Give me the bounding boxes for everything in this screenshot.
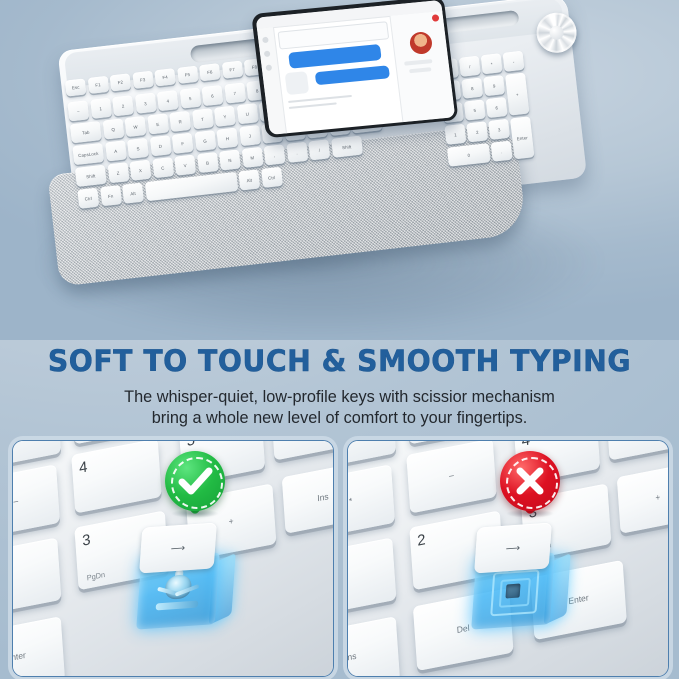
numpad-close-keycap[interactable]: ← [13, 441, 61, 469]
keycap[interactable]: S [127, 138, 149, 159]
product-infographic: EscF1F2F3F4F5F6F7F8F9F10F11F12~123456789… [0, 0, 679, 679]
keycap[interactable]: F4 [154, 68, 176, 86]
numpad-close-keycap[interactable]: 6 [271, 441, 333, 460]
keycap-label: 8 [462, 84, 482, 91]
check-icon [165, 451, 225, 511]
keycap-label: F5 [177, 71, 197, 78]
membrane-post [505, 584, 520, 599]
keycap-label: Shift [331, 143, 361, 151]
keycap[interactable]: Ctrl [77, 188, 99, 209]
keycap-label: . [491, 148, 511, 155]
numpad-close-keycap[interactable]: 1End [348, 537, 396, 616]
keycap[interactable]: Ctrl [261, 167, 283, 188]
keycap-label: 0 [448, 150, 490, 160]
keycap-secondary-label: PgDn [348, 441, 395, 446]
keycap[interactable]: 1 [90, 98, 112, 119]
keycap-label: F [172, 140, 192, 147]
keycap[interactable]: T [192, 108, 214, 129]
highlighted-keycap-bad: ⟶ [474, 522, 552, 573]
keycap-label: 5 [465, 106, 485, 113]
subtitle-line-1: The whisper-quiet, low-profile keys with… [124, 388, 555, 406]
keycap[interactable]: G [194, 130, 216, 151]
numpad-close-keycap[interactable]: PgDn [348, 441, 396, 469]
keycap[interactable]: F1 [87, 76, 109, 94]
keycap-primary-label: 4 [79, 458, 88, 477]
numpad-close-keycap[interactable]: – [406, 441, 496, 513]
keycap[interactable]: N [219, 149, 241, 170]
keycap-label: . [287, 149, 307, 156]
scissor-mechanism [154, 567, 203, 610]
keycap[interactable]: Z [107, 162, 129, 183]
keycap-label: M [242, 154, 262, 161]
keycap-label: F1 [88, 81, 108, 88]
keycap[interactable]: E [147, 113, 169, 134]
keycap[interactable]: 6 [201, 85, 223, 106]
phone-app-contact-pane [389, 10, 455, 121]
keycap[interactable]: . [286, 142, 308, 163]
keycap-label: X [130, 167, 150, 174]
numpad-keycap[interactable]: 2 [466, 121, 488, 142]
numpad-close-keycap[interactable]: Enter [13, 616, 65, 676]
chat-bubble-outgoing [288, 44, 382, 69]
keycap-label: 1 [90, 105, 110, 112]
numpad-close-keycap[interactable]: – [13, 464, 60, 539]
keycap-arrow-glyph: ⟶ [140, 541, 215, 557]
highlighted-keycap-good: ⟶ [139, 522, 217, 573]
keycap[interactable]: U [236, 103, 258, 124]
keycap-label: A [105, 147, 125, 154]
numpad-keycap[interactable]: 5 [464, 99, 486, 120]
keycap-label: E [148, 120, 168, 127]
keycap-label: 3 [135, 100, 155, 107]
keycap-secondary-label: Ins [283, 486, 333, 511]
subtitle: The whisper-quiet, low-profile keys with… [0, 378, 679, 428]
keycap-label: ~ [68, 107, 88, 114]
keycap[interactable]: A [105, 140, 127, 161]
keycap[interactable]: 3 [134, 93, 156, 114]
keycap-label: 2 [467, 128, 487, 135]
keycap-label: F6 [200, 69, 220, 76]
panel-membrane-switch-bad: PgUpPgDnNumClear←Back7Home8*–4561End23Pg… [347, 440, 669, 677]
cross-icon [500, 451, 560, 511]
page-title: SOFT TO TOUCH & SMOOTH TYPING [14, 336, 666, 378]
keycap-label: G [195, 137, 215, 144]
keycap[interactable]: W [124, 116, 146, 137]
numpad-keycap[interactable]: Enter [510, 116, 535, 159]
scissor-baseplate [156, 601, 199, 611]
keycap[interactable]: X [129, 160, 151, 181]
keycap-primary-label: 4 [521, 441, 530, 450]
keycap-label: 1 [445, 131, 465, 138]
keycap-secondary-label: – [408, 463, 495, 489]
keycap-label: CapsLock [73, 150, 103, 158]
nav-rail-icon [265, 64, 272, 71]
phone-text-line [288, 102, 336, 109]
panel-scissor-switch-good: PgUp←←Back7Home8*–4561End23PgDn+Ins.Ente… [12, 440, 334, 677]
keycap-label: B [197, 159, 217, 166]
keycap-label: Z [108, 169, 128, 176]
numpad-close-keycap[interactable]: Ins [348, 616, 400, 676]
phone-text-line [287, 94, 351, 103]
keycap[interactable]: J [239, 125, 261, 146]
membrane-mechanism [490, 570, 535, 613]
keycap-label: 4 [158, 97, 178, 104]
keycap-label: W [125, 123, 145, 130]
keycap-secondary-label: Enter [13, 644, 63, 672]
keycap-primary-label: 5 [186, 441, 195, 450]
keycap-label: Alt [123, 190, 143, 197]
numpad-keycap[interactable]: * [481, 53, 503, 74]
keycap[interactable]: F [172, 133, 194, 154]
keycap-label: S [128, 145, 148, 152]
keycap[interactable]: 2 [112, 95, 134, 116]
subtitle-line-2: bring a whole new level of comfort to yo… [152, 409, 528, 427]
keycap-label: * [481, 60, 501, 67]
notification-dot [431, 14, 439, 22]
keycap[interactable]: CapsLock [72, 143, 104, 165]
nav-rail-icon [263, 50, 270, 57]
keycap-secondary-label: + [618, 486, 668, 511]
keycap-label: + [507, 90, 527, 97]
keycap-label: 5 [180, 94, 200, 101]
keycap[interactable]: F7 [221, 61, 243, 79]
keycap[interactable]: , [264, 144, 286, 165]
numpad-photo-bad: PgUpPgDnNumClear←Back7Home8*–4561End23Pg… [348, 441, 668, 676]
comparison-panels: PgUp←←Back7Home8*–4561End23PgDn+Ins.Ente… [0, 436, 679, 679]
smartphone-on-stand [251, 0, 458, 138]
keycap-label: Ctrl [261, 174, 281, 181]
keycap-label: 6 [202, 92, 222, 99]
keycap[interactable]: R [169, 111, 191, 132]
keycap[interactable]: Tab [70, 121, 102, 143]
numpad-keycap[interactable]: 6 [486, 97, 508, 118]
numpad-keycap[interactable]: - [503, 51, 525, 72]
chat-bubble-incoming [284, 71, 309, 95]
numpad-keycap[interactable]: . [491, 141, 513, 162]
keycap[interactable]: / [308, 139, 330, 160]
keycap[interactable]: 4 [157, 90, 179, 111]
keycap[interactable]: V [174, 155, 196, 176]
keycap-secondary-label: – [13, 489, 58, 515]
keycap-label: Shift [76, 172, 106, 180]
keycap-secondary-label: PgDn [86, 570, 105, 583]
numpad-keycap[interactable]: / [459, 56, 481, 77]
keycap[interactable]: M [241, 147, 263, 168]
keycap-secondary-label: ← [13, 441, 60, 446]
keycap[interactable]: F6 [199, 63, 221, 81]
keycap[interactable]: C [152, 157, 174, 178]
keycap-label: - [503, 58, 523, 65]
keycap-label: Alt [239, 176, 259, 183]
numpad-keycap[interactable]: 0 [447, 143, 491, 167]
numpad-keycap[interactable]: 9 [483, 75, 505, 96]
keycap[interactable]: 5 [179, 88, 201, 109]
keycap-label: 3 [489, 126, 509, 133]
keycap[interactable]: Alt [238, 169, 260, 190]
keycap-label: F3 [133, 76, 153, 83]
green-check-badge [165, 451, 225, 511]
keycap-secondary-label: * [348, 489, 393, 515]
chat-bubble-outgoing [314, 65, 389, 85]
keycap-label: R [170, 118, 190, 125]
numpad-close-keycap[interactable]: + [617, 462, 668, 534]
keycap[interactable]: Shift [75, 165, 107, 187]
phone-screen [255, 0, 455, 134]
keycap-label: Tab [71, 128, 101, 136]
keycap[interactable]: F2 [110, 73, 132, 91]
keycap-label: Y [215, 113, 235, 120]
keycap[interactable]: F3 [132, 71, 154, 89]
keycap-label: Esc [65, 84, 85, 91]
keycap[interactable]: Y [214, 106, 236, 127]
keycap-label: F2 [110, 79, 130, 86]
keycap[interactable]: ~ [67, 100, 89, 121]
keycap-label: F4 [155, 74, 175, 81]
numpad-close-keycap[interactable]: Ins [282, 462, 333, 534]
keycap-primary-label: 3 [82, 531, 91, 550]
keycap-label: D [150, 142, 170, 149]
keycap-label: 2 [113, 102, 133, 109]
numpad-close-keycap[interactable]: 4 [71, 441, 161, 513]
keycap-label: Fn [100, 192, 120, 199]
keycap-label: 7 [225, 89, 245, 96]
keycap-secondary-label: Ins [348, 644, 398, 672]
keycap-label: N [220, 156, 240, 163]
numpad-keycap[interactable]: 1 [444, 124, 466, 145]
keycap-label: / [460, 63, 480, 70]
keycap-label: Enter [512, 134, 532, 141]
keycap-label: , [264, 151, 284, 158]
keycap-label: V [175, 161, 195, 168]
numpad-close-keycap[interactable]: * [348, 464, 395, 539]
keycap-label: T [192, 115, 212, 122]
keycap[interactable]: Q [102, 118, 124, 139]
keycap-label: 9 [484, 82, 504, 89]
red-cross-badge [500, 451, 560, 511]
keycap[interactable]: Shift [331, 136, 363, 158]
numpad-close-keycap[interactable]: 5 [606, 441, 668, 460]
keycap-label [145, 181, 236, 191]
nav-rail-icon [262, 36, 269, 43]
numpad-keycap[interactable]: 3 [488, 119, 510, 140]
keycap[interactable]: B [197, 152, 219, 173]
keycap-primary-label: 2 [417, 531, 426, 550]
keycap-label: J [240, 132, 260, 139]
keycap[interactable]: Fn [100, 185, 122, 206]
keycap[interactable]: D [149, 135, 171, 156]
keycap[interactable]: F5 [177, 66, 199, 84]
headline-block: SOFT TO TOUCH & SMOOTH TYPING The whispe… [0, 336, 679, 436]
keycap-label: F7 [222, 66, 242, 73]
hero-product-photo: EscF1F2F3F4F5F6F7F8F9F10F11F12~123456789… [0, 0, 679, 340]
keycap-label: Q [103, 125, 123, 132]
keycap[interactable]: 7 [224, 82, 246, 103]
numpad-keycap[interactable]: + [505, 73, 530, 116]
numpad-photo-good: PgUp←←Back7Home8*–4561End23PgDn+Ins.Ente… [13, 441, 333, 676]
keycap-label: 6 [486, 104, 506, 111]
keycap[interactable]: Alt [122, 183, 144, 204]
keycap-label: Ctrl [78, 195, 98, 202]
numpad-close-keycap[interactable]: 2 [13, 537, 61, 616]
keycap-label: / [309, 146, 329, 153]
keycap[interactable]: Esc [65, 78, 87, 96]
keycap-label: H [217, 135, 237, 142]
keycap-arrow-glyph: ⟶ [475, 541, 550, 557]
keycap[interactable]: H [216, 128, 238, 149]
keycap-label: C [153, 164, 173, 171]
numpad-keycap[interactable]: 8 [461, 78, 483, 99]
keycap-label: U [237, 110, 257, 117]
